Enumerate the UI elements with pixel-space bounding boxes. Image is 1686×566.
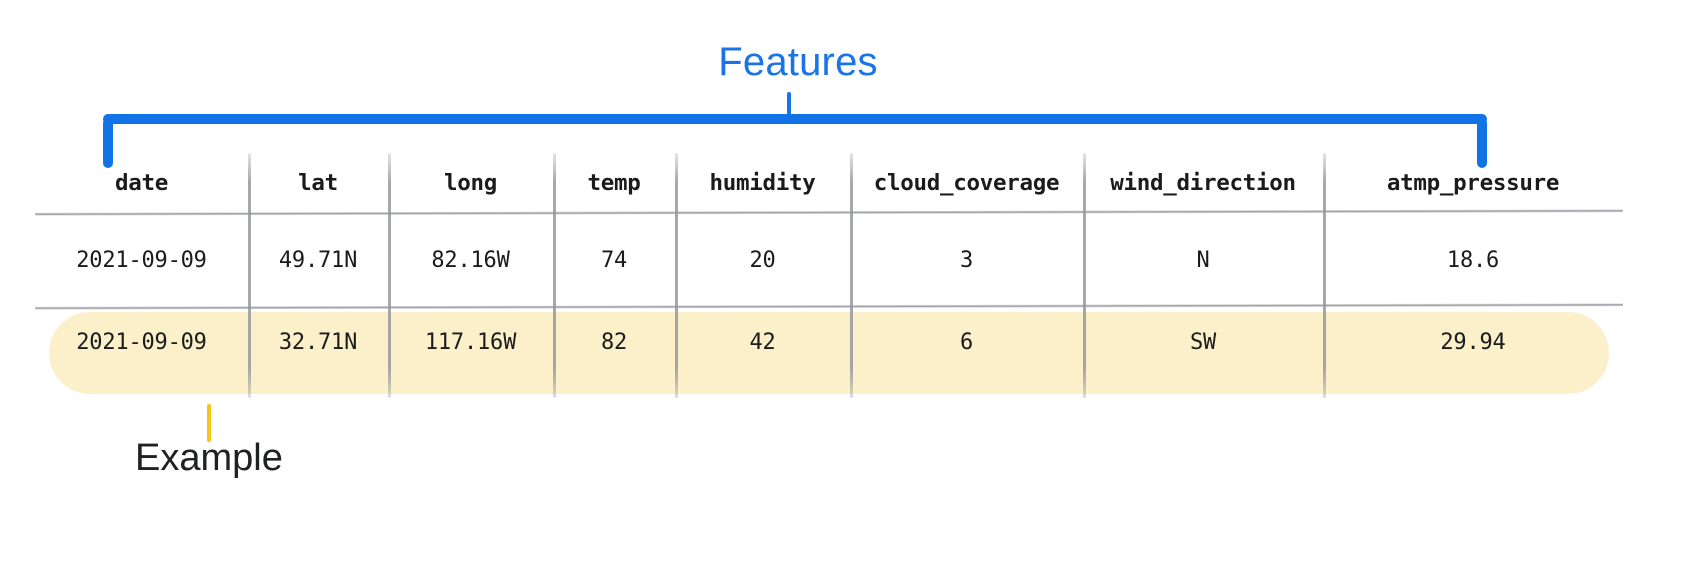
cell-lat: 49.71N <box>248 236 388 284</box>
features-annotation-label: Features <box>0 38 1641 86</box>
column-header-date: date <box>35 158 248 208</box>
column-header-cloud-coverage: cloud_coverage <box>850 158 1083 208</box>
data-table: date lat long temp humidity cloud_covera… <box>35 140 1623 398</box>
diagram-canvas: Features date lat long temp humidity clo… <box>0 0 1686 566</box>
table-row: 2021-09-09 49.71N 82.16W 74 20 3 N 18.6 <box>35 236 1623 284</box>
column-header-atmp-pressure: atmp_pressure <box>1323 158 1623 208</box>
cell-date: 2021-09-09 <box>35 236 248 284</box>
column-header-wind-direction: wind_direction <box>1083 158 1323 208</box>
cell-atmp-pressure: 29.94 <box>1323 318 1623 366</box>
cell-long: 117.16W <box>388 318 553 366</box>
cell-cloud-coverage: 6 <box>850 318 1083 366</box>
cell-temp: 82 <box>553 318 675 366</box>
column-header-temp: temp <box>553 158 675 208</box>
cell-humidity: 42 <box>675 318 850 366</box>
cell-humidity: 20 <box>675 236 850 284</box>
cell-cloud-coverage: 3 <box>850 236 1083 284</box>
cell-atmp-pressure: 18.6 <box>1323 236 1623 284</box>
cell-lat: 32.71N <box>248 318 388 366</box>
table-row-highlighted: 2021-09-09 32.71N 117.16W 82 42 6 SW 29.… <box>35 318 1623 366</box>
table-header-row: date lat long temp humidity cloud_covera… <box>35 158 1623 208</box>
example-annotation-label: Example <box>135 434 283 482</box>
cell-long: 82.16W <box>388 236 553 284</box>
column-header-lat: lat <box>248 158 388 208</box>
cell-wind-direction: N <box>1083 236 1323 284</box>
cell-temp: 74 <box>553 236 675 284</box>
column-header-long: long <box>388 158 553 208</box>
cell-wind-direction: SW <box>1083 318 1323 366</box>
features-bracket <box>103 114 1487 124</box>
column-header-humidity: humidity <box>675 158 850 208</box>
cell-date: 2021-09-09 <box>35 318 248 366</box>
